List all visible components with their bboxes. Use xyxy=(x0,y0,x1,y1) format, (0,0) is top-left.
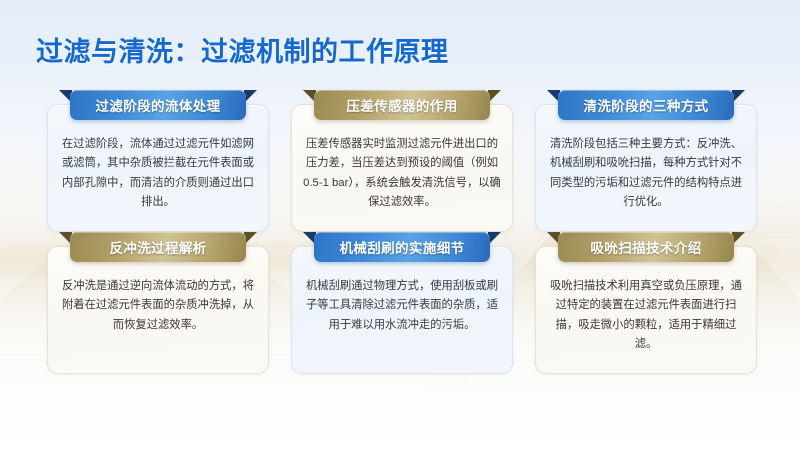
card-title: 机械刮刷的实施细节 xyxy=(339,237,464,257)
banner-plate: 吸吮扫描技术介绍 xyxy=(558,232,734,262)
card-title: 反冲洗过程解析 xyxy=(109,237,206,257)
page-title: 过滤与清洗：过滤机制的工作原理 xyxy=(36,30,449,69)
card-title: 清洗阶段的三种方式 xyxy=(583,95,708,115)
info-card[interactable]: 机械刮刷的实施细节 机械刮刷通过物理方式，使用刮板或刷子等工具清除过滤元件表面的… xyxy=(291,246,513,374)
card-banner: 机械刮刷的实施细节 xyxy=(314,232,490,262)
info-card[interactable]: 吸吮扫描技术介绍 吸吮扫描技术利用真空或负压原理，通过特定的装置在过滤元件表面进… xyxy=(535,246,757,374)
card-banner: 反冲洗过程解析 xyxy=(70,232,246,262)
card-body-text: 清洗阶段包括三种主要方式：反冲洗、机械刮刷和吸吮扫描，每种方式针对不同类型的污垢… xyxy=(547,135,745,213)
banner-plate: 反冲洗过程解析 xyxy=(70,232,246,262)
card-banner: 过滤阶段的流体处理 xyxy=(70,90,246,120)
info-card[interactable]: 压差传感器的作用 压差传感器实时监测过滤元件进出口的压力差，当压差达到预设的阈值… xyxy=(291,104,513,232)
info-card[interactable]: 反冲洗过程解析 反冲洗是通过逆向流体流动的方式，将附着在过滤元件表面的杂质冲洗掉… xyxy=(47,246,269,374)
card-banner: 压差传感器的作用 xyxy=(314,90,490,120)
card-body-text: 压差传感器实时监测过滤元件进出口的压力差，当压差达到预设的阈值（例如0.5-1 … xyxy=(303,135,501,213)
card-title: 吸吮扫描技术介绍 xyxy=(590,237,701,257)
banner-plate: 压差传感器的作用 xyxy=(314,90,490,120)
card-title: 压差传感器的作用 xyxy=(346,95,457,115)
card-title: 过滤阶段的流体处理 xyxy=(95,95,220,115)
card-body-text: 吸吮扫描技术利用真空或负压原理，通过特定的装置在过滤元件表面进行扫描，吸走微小的… xyxy=(547,277,745,355)
info-card[interactable]: 过滤阶段的流体处理 在过滤阶段，流体通过过滤元件如滤网或滤筒，其中杂质被拦截在元… xyxy=(47,104,269,232)
card-grid: 过滤阶段的流体处理 在过滤阶段，流体通过过滤元件如滤网或滤筒，其中杂质被拦截在元… xyxy=(47,104,757,374)
card-body-text: 机械刮刷通过物理方式，使用刮板或刷子等工具清除过滤元件表面的杂质，适用于难以用水… xyxy=(303,277,501,335)
banner-plate: 过滤阶段的流体处理 xyxy=(70,90,246,120)
info-card[interactable]: 清洗阶段的三种方式 清洗阶段包括三种主要方式：反冲洗、机械刮刷和吸吮扫描，每种方… xyxy=(535,104,757,232)
banner-plate: 机械刮刷的实施细节 xyxy=(314,232,490,262)
card-body-text: 在过滤阶段，流体通过过滤元件如滤网或滤筒，其中杂质被拦截在元件表面或内部孔隙中，… xyxy=(59,135,257,213)
card-banner: 吸吮扫描技术介绍 xyxy=(558,232,734,262)
banner-plate: 清洗阶段的三种方式 xyxy=(558,90,734,120)
slide-canvas: 过滤与清洗：过滤机制的工作原理 过滤阶段的流体处理 在过滤阶段，流体通过过滤元件… xyxy=(0,0,800,450)
card-body-text: 反冲洗是通过逆向流体流动的方式，将附着在过滤元件表面的杂质冲洗掉，从而恢复过滤效… xyxy=(59,277,257,335)
card-banner: 清洗阶段的三种方式 xyxy=(558,90,734,120)
